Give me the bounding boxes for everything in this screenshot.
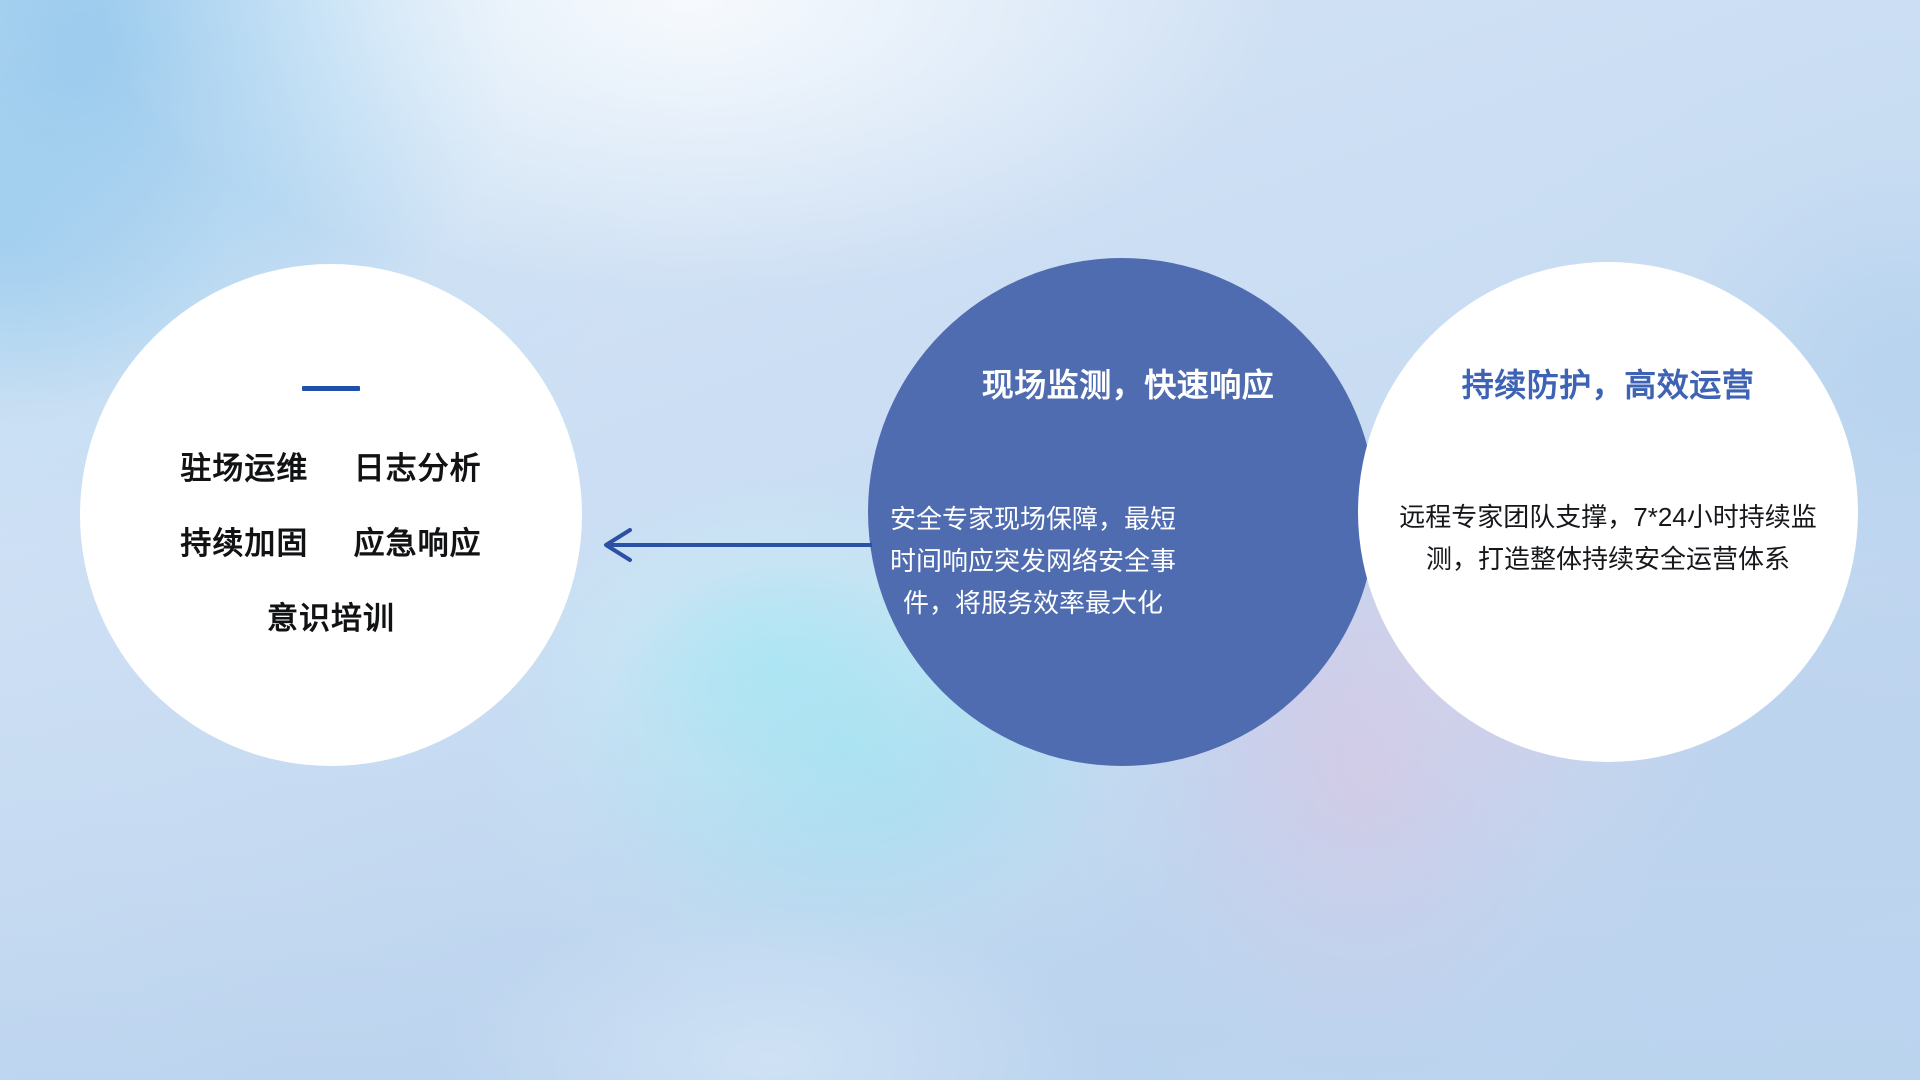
left-circle-divider [302,386,360,391]
left-circle-line-3: 意识培训 [267,603,395,634]
left-circle-content: 驻场运维 日志分析 持续加固 应急响应 意识培训 [80,264,582,766]
slide-canvas: 驻场运维 日志分析 持续加固 应急响应 意识培训 现场监测，快速响应 安全专家现… [0,0,1920,1080]
left-circle-tag-3a: 意识培训 [267,601,395,636]
left-circle-tag-2b: 应急响应 [354,526,482,561]
left-circle-line-2: 持续加固 应急响应 [180,528,481,559]
left-circle-line-1: 驻场运维 日志分析 [180,453,481,484]
flow-arrow-left-icon [596,512,876,578]
left-circle-tag-1b: 日志分析 [354,451,482,486]
left-circle-tag-1a: 驻场运维 [180,451,308,486]
left-circle-tag-2a: 持续加固 [180,526,308,561]
right-white-circle [1358,262,1858,762]
center-blue-circle [868,258,1376,766]
